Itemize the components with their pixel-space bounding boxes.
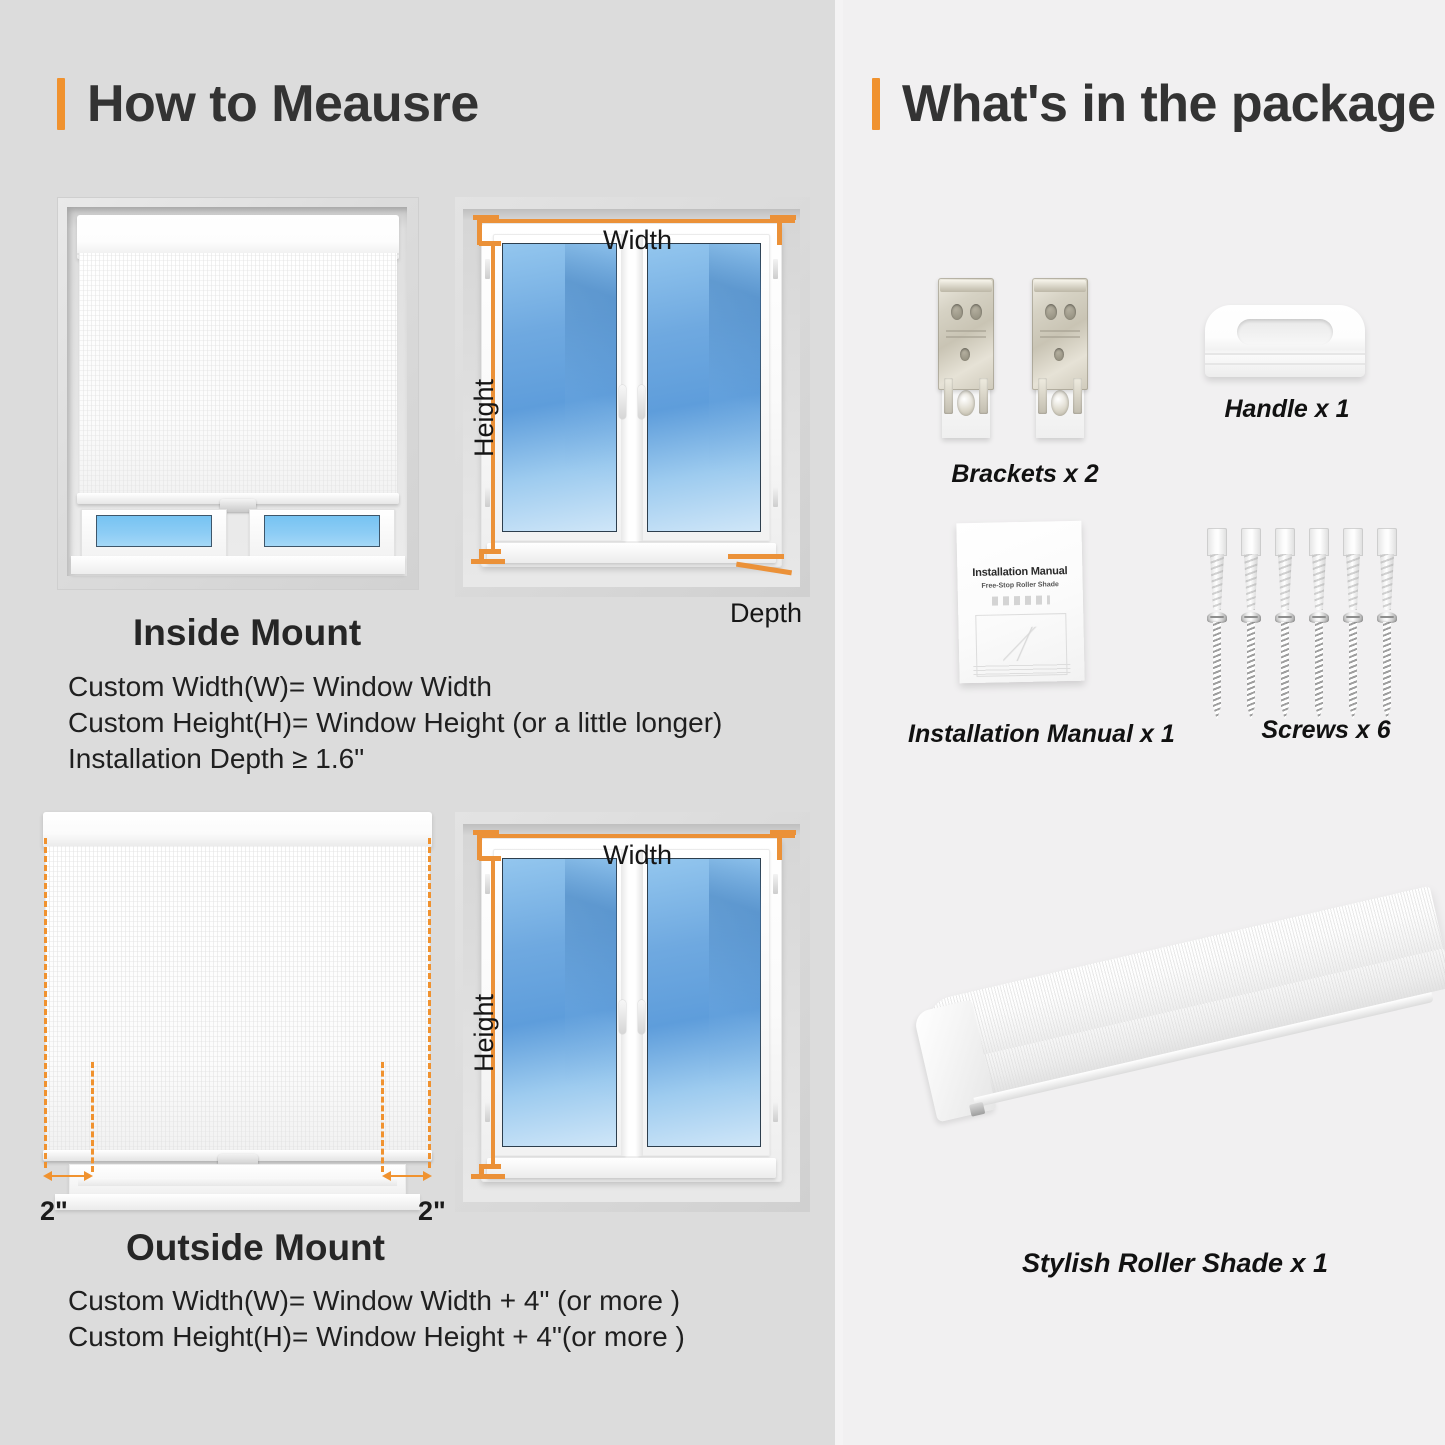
infographic-page: How to Meausre: [0, 0, 1445, 1445]
overlap-dashline-right: [428, 838, 431, 1168]
width-mark-line: [477, 219, 795, 223]
shade-fabric: [79, 253, 397, 496]
om-diagram-sash-right: [638, 849, 771, 1156]
bracket-2-ridge-b: [1040, 336, 1080, 338]
screws-label: Screws x 6: [1226, 716, 1426, 745]
om-hinge-top-right-icon: [773, 874, 778, 894]
screw-5: [1343, 612, 1363, 720]
overlap-dashline-left-inner: [91, 1062, 94, 1172]
overlap-arrow-right: [382, 1170, 432, 1182]
om-height-label: Height: [469, 994, 500, 1072]
bracket-2-top-flange: [1034, 280, 1086, 292]
om-diagram-glass-left: [502, 858, 617, 1147]
bracket-2-hole-c: [1054, 348, 1064, 361]
accent-bar-icon: [57, 78, 65, 130]
overlap-label-left: 2": [40, 1196, 68, 1227]
bracket-2-slot-left: [1038, 378, 1047, 414]
manual-cover-subtitle: Free-Stop Roller Shade: [958, 581, 1083, 591]
window-sash-row: [81, 509, 395, 557]
overlap-label-right: 2": [418, 1196, 446, 1227]
bracket-1-hole-c: [960, 348, 970, 361]
manual-cover-footer-lines: [973, 663, 1070, 675]
bracket-1-ridge-a: [946, 330, 986, 332]
diagram-window-frame: [481, 223, 782, 567]
diagram-glass-right: [647, 243, 762, 532]
overlap-arrow-left: [43, 1170, 93, 1182]
roller-shade-end-clip: [969, 1102, 985, 1117]
handle-ridge-1: [1205, 353, 1365, 355]
roller-shade-product-image: [905, 890, 1425, 1210]
bracket-2-center-oval: [1051, 390, 1069, 416]
bracket-2-hole-b: [1064, 304, 1076, 320]
inside-mount-title: Inside Mount: [133, 612, 361, 654]
om-height-mark-foot: [471, 1174, 505, 1179]
wall-anchor-1: [1206, 528, 1228, 610]
window-handle-latches-icon: [619, 385, 645, 419]
handle-grip-slot: [1237, 319, 1333, 345]
om-window-sill: [55, 1194, 420, 1210]
bracket-1-ridge-b: [946, 336, 986, 338]
outside-mount-title: Outside Mount: [126, 1227, 385, 1269]
om-height-mark-top-tick: [479, 856, 501, 861]
panel-divider: [835, 0, 843, 1445]
outside-mount-shade-illustration: [25, 812, 450, 1212]
depth-mark-top: [728, 554, 784, 559]
screw-4: [1309, 612, 1329, 720]
bracket-1-hole-b: [970, 304, 982, 320]
inside-mount-spec-1: Custom Width(W)= Window Width: [68, 671, 492, 703]
manual-cover-title: Installation Manual: [957, 565, 1082, 580]
diagram-sash-left: [493, 234, 626, 541]
bracket-1-metal-body: [938, 278, 994, 390]
depth-label: Depth: [730, 598, 802, 629]
handle-item: [1205, 305, 1365, 377]
window-glass-right: [264, 515, 380, 547]
height-mark-top-tick: [479, 241, 501, 246]
inside-mount-spec-2: Custom Height(H)= Window Height (or a li…: [68, 707, 722, 739]
outside-mount-spec-2: Custom Height(H)= Window Height + 4"(or …: [68, 1321, 685, 1353]
window-sash-right: [249, 509, 395, 557]
bracket-1-top-flange: [940, 280, 992, 292]
screw-2: [1241, 612, 1261, 720]
overlap-dashline-left: [44, 838, 47, 1168]
bracket-1-slot-right: [979, 378, 988, 414]
om-shade-headrail: [43, 812, 432, 848]
wall-anchor-2: [1240, 528, 1262, 610]
diagram-glass-left: [502, 243, 617, 532]
bracket-1-slot-left: [944, 378, 953, 414]
diagram-sash-right: [638, 234, 771, 541]
bracket-2-hole-a: [1045, 304, 1057, 320]
om-width-mark-right-drop: [777, 830, 782, 860]
window-glass-left: [96, 515, 212, 547]
bracket-1-hole-a: [951, 304, 963, 320]
wall-anchor-3: [1274, 528, 1296, 610]
screw-1: [1207, 612, 1227, 720]
manual-label: Installation Manual x 1: [908, 720, 1168, 749]
om-shade-fabric: [45, 846, 430, 1152]
bracket-item-1: [938, 278, 994, 438]
inside-mount-measure-diagram: Width Height Depth: [455, 197, 810, 597]
om-hinge-top-left-icon: [485, 874, 490, 894]
om-hinge-bottom-right-icon: [773, 1102, 778, 1122]
bracket-2-metal-body: [1032, 278, 1088, 390]
manual-cover-sketch: [1003, 627, 1040, 662]
inside-mount-shade-illustration: [57, 197, 419, 590]
om-width-label: Width: [603, 840, 672, 871]
om-diagram-sash-left: [493, 849, 626, 1156]
om-window-handle-latches-icon: [619, 1000, 645, 1034]
outside-mount-measure-diagram: Width Height: [455, 812, 810, 1212]
roller-shade-label: Stylish Roller Shade x 1: [960, 1248, 1390, 1279]
bracket-2-ridge-a: [1040, 330, 1080, 332]
height-mark-foot: [471, 559, 505, 564]
window-sill: [71, 556, 405, 574]
height-label: Height: [469, 379, 500, 457]
accent-bar-icon-right: [872, 78, 880, 130]
window-sash-left: [81, 509, 227, 557]
om-diagram-window-frame: [481, 838, 782, 1182]
wall-anchor-6: [1376, 528, 1398, 610]
hinge-bottom-left-icon: [485, 487, 490, 507]
right-section-heading: What's in the package: [872, 74, 1436, 134]
brackets-label: Brackets x 2: [950, 460, 1100, 489]
screw-3: [1275, 612, 1295, 720]
om-diagram-base-sill: [487, 1158, 776, 1178]
bracket-item-2: [1032, 278, 1088, 438]
wall-anchor-4: [1308, 528, 1330, 610]
hinge-top-left-icon: [485, 259, 490, 279]
wall-anchor-5: [1342, 528, 1364, 610]
outside-mount-spec-1: Custom Width(W)= Window Width + 4" (or m…: [68, 1285, 680, 1317]
overlap-dashline-right-inner: [381, 1062, 384, 1172]
diagram-base-sill: [487, 543, 776, 563]
bracket-1-center-oval: [957, 390, 975, 416]
om-width-mark-right-tick: [770, 830, 796, 835]
hinge-top-right-icon: [773, 259, 778, 279]
screw-6: [1377, 612, 1397, 720]
left-section-heading: How to Meausre: [57, 74, 479, 134]
width-mark-right-drop: [777, 215, 782, 245]
om-window-behind: [69, 1164, 406, 1196]
width-label: Width: [603, 225, 672, 256]
right-heading-text: What's in the package: [902, 74, 1436, 134]
handle-label: Handle x 1: [1222, 395, 1352, 424]
handle-ridge-2: [1205, 363, 1365, 365]
left-heading-text: How to Meausre: [87, 74, 479, 134]
hinge-bottom-right-icon: [773, 487, 778, 507]
om-width-mark-line: [477, 834, 795, 838]
manual-item: Installation Manual Free-Stop Roller Sha…: [956, 521, 1084, 684]
bracket-2-slot-right: [1073, 378, 1082, 414]
width-mark-right-tick: [770, 215, 796, 220]
inside-mount-spec-3: Installation Depth ≥ 1.6": [68, 743, 364, 775]
om-diagram-glass-right: [647, 858, 762, 1147]
manual-cover-scribble: [992, 595, 1050, 605]
om-hinge-bottom-left-icon: [485, 1102, 490, 1122]
